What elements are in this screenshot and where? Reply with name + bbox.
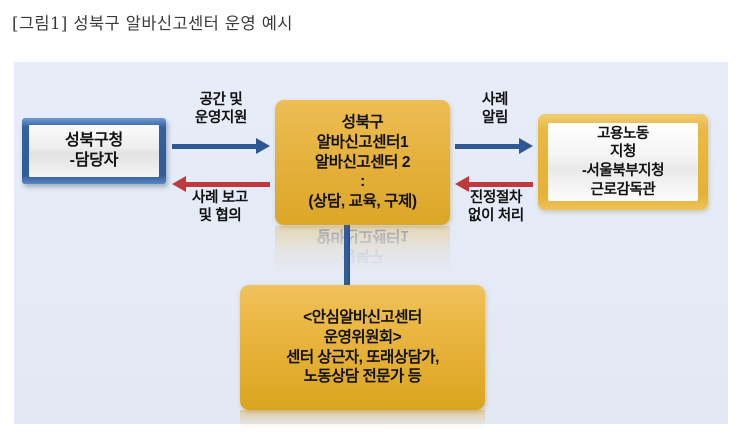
figure-caption: [그림1] 성북구 알바신고센터 운영 예시 (12, 10, 293, 34)
arrow-head-right-icon (519, 138, 533, 154)
arrow-center-to-gov (172, 178, 270, 190)
connector-center-to-committee (344, 224, 350, 288)
center-box-reflection: 성북구 알바신고센터1 알바신고센터 2 : (상담, 교육, 구제) (275, 226, 450, 278)
arrow-shaft (455, 144, 519, 149)
center-box-reflection-text: 성북구 알바신고센터1 알바신고센터 2 : (상담, 교육, 구제) (275, 226, 450, 278)
node-operating-committee: <안심알바신고센터 운영위원회> 센터 상근자, 또래상담가, 노동상담 전문가… (240, 285, 485, 410)
arrow-shaft (469, 182, 533, 187)
node-labor-office-label: 고용노동 지청 -서울북부지청 근로감독관 (548, 123, 698, 201)
arrow-center-to-labor (455, 140, 533, 152)
arrow-shaft (186, 182, 270, 187)
arrow-gov-to-center (172, 140, 270, 152)
arrow-shaft (172, 144, 256, 149)
committee-box-reflection (240, 410, 485, 430)
node-alba-report-center: 성북구 알바신고센터1 알바신고센터 2 : (상담, 교육, 구제) (275, 100, 450, 225)
arrow-label-case-notify: 사례 알림 (452, 92, 538, 127)
arrow-label-no-petition: 진정절차 없이 처리 (446, 190, 546, 225)
node-seongbuk-gu-office-label: 성북구청 -담당자 (29, 125, 159, 177)
arrow-labor-to-center (455, 178, 533, 190)
arrow-label-space-support: 공간 및 운영지원 (166, 92, 276, 127)
node-labor-office: 고용노동 지청 -서울북부지청 근로감독관 (538, 114, 708, 210)
arrow-label-report-consult: 사례 보고 및 협의 (164, 190, 276, 225)
node-seongbuk-gu-office: 성북구청 -담당자 (22, 118, 166, 184)
arrow-head-right-icon (256, 138, 270, 154)
